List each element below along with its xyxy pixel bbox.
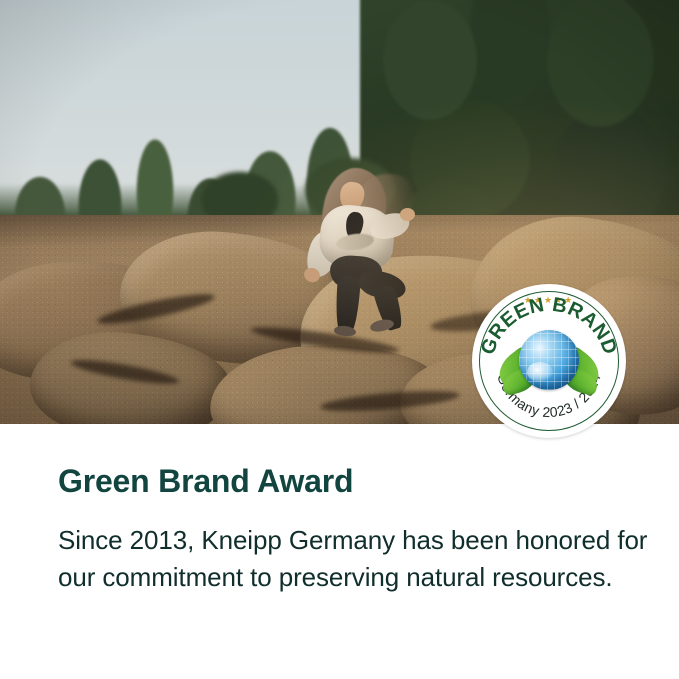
body-paragraph: Since 2013, Kneipp Germany has been hono… <box>58 522 654 596</box>
text-section: Green Brand Award Since 2013, Kneipp Ger… <box>0 424 679 679</box>
page-title: Green Brand Award <box>58 464 353 499</box>
left-leg <box>334 275 361 332</box>
right-hand <box>400 208 415 221</box>
globe-icon <box>519 330 579 390</box>
woman-climbing-rocks <box>300 168 420 333</box>
green-brand-award-card: ★★★★★ GREEN BRAND Germany 2023 / 2024 Gr… <box>0 0 679 679</box>
globe-highlight <box>527 362 553 382</box>
green-brand-award-seal: ★★★★★ GREEN BRAND Germany 2023 / 2024 <box>472 284 626 438</box>
right-foot <box>369 318 395 334</box>
globe-grid <box>519 330 579 390</box>
